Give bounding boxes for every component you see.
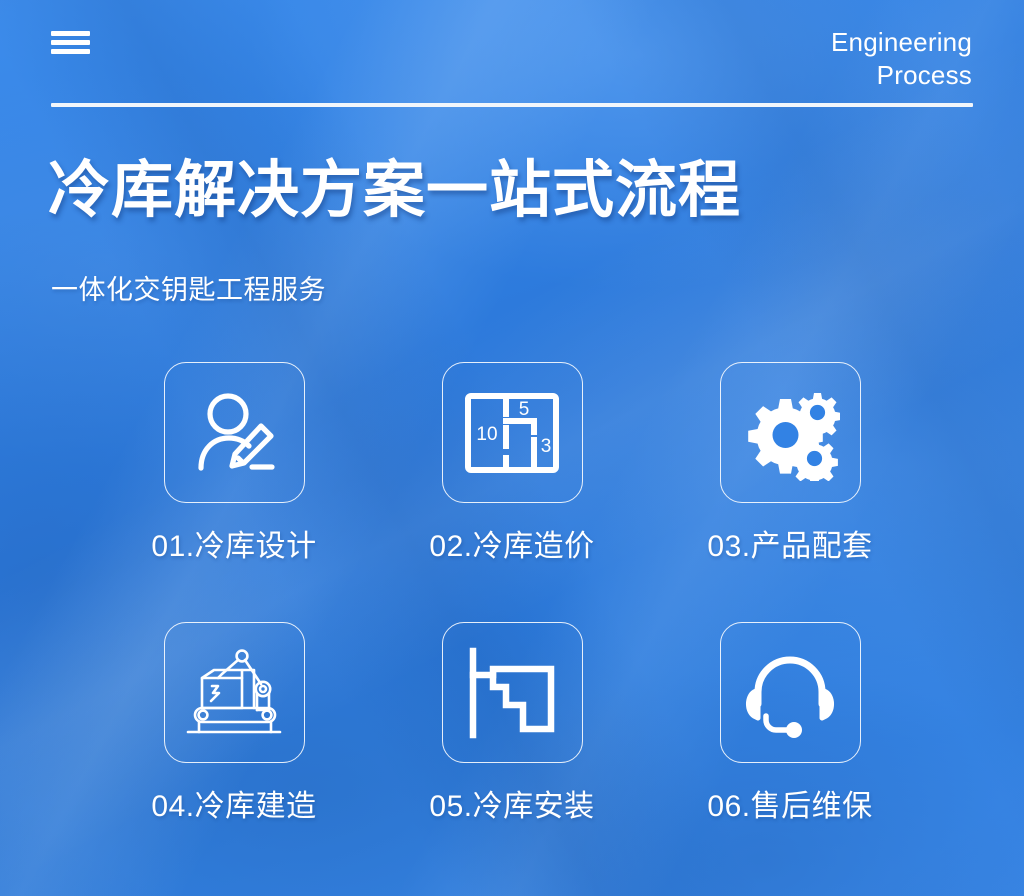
process-step-05-label: 05.冷库安装: [429, 788, 594, 826]
page-header: Engineering Process: [51, 0, 973, 112]
process-step-05[interactable]: 05.冷库安装: [373, 600, 651, 826]
robot-arm-conveyor-icon: [182, 644, 286, 742]
process-step-03[interactable]: 03.产品配套: [651, 340, 929, 566]
process-step-06-label: 06.售后维保: [707, 788, 872, 826]
process-step-04-icon-box: [164, 622, 305, 763]
process-step-03-icon-box: [720, 362, 861, 503]
process-step-01[interactable]: 01.冷库设计: [95, 340, 373, 566]
headset-support-icon: [742, 646, 838, 740]
process-step-06[interactable]: 06.售后维保: [651, 600, 929, 826]
hamburger-menu-icon[interactable]: [51, 31, 90, 54]
process-step-02-icon-box: 10 5 3: [442, 362, 583, 503]
floor-plan-label-5: 5: [519, 399, 530, 420]
process-step-03-label: 03.产品配套: [707, 528, 872, 566]
page-subtitle: 一体化交钥匙工程服务: [51, 272, 326, 308]
gears-icon: [740, 385, 840, 481]
hamburger-bar-1: [51, 31, 90, 36]
process-step-01-icon-box: [164, 362, 305, 503]
page-title: 冷库解决方案一站式流程: [48, 154, 741, 228]
hamburger-bar-3: [51, 49, 90, 54]
process-step-04-label: 04.冷库建造: [151, 788, 316, 826]
process-step-04[interactable]: 04.冷库建造: [95, 600, 373, 826]
process-step-01-label: 01.冷库设计: [151, 528, 316, 566]
header-divider: [51, 103, 973, 107]
stairs-install-icon: [466, 647, 558, 739]
floor-plan-icon: 10 5 3: [462, 388, 562, 478]
floor-plan-label-10: 10: [476, 424, 497, 445]
header-title: Engineering Process: [831, 26, 972, 92]
process-step-02[interactable]: 10 5 3 02.冷库造价: [373, 340, 651, 566]
user-edit-icon: [186, 385, 282, 481]
process-step-grid: 01.冷库设计 10 5 3: [0, 340, 1024, 826]
floor-plan-label-3: 3: [541, 436, 552, 457]
hamburger-bar-2: [51, 40, 90, 45]
header-title-line-1: Engineering: [831, 26, 972, 59]
process-step-02-label: 02.冷库造价: [429, 528, 594, 566]
process-step-05-icon-box: [442, 622, 583, 763]
header-title-line-2: Process: [831, 59, 972, 92]
process-step-row-1: 01.冷库设计 10 5 3: [0, 340, 1024, 566]
process-step-06-icon-box: [720, 622, 861, 763]
engineering-process-banner: Engineering Process 冷库解决方案一站式流程 一体化交钥匙工程…: [0, 0, 1024, 896]
process-step-row-2: 04.冷库建造 05.冷库安装: [0, 600, 1024, 826]
